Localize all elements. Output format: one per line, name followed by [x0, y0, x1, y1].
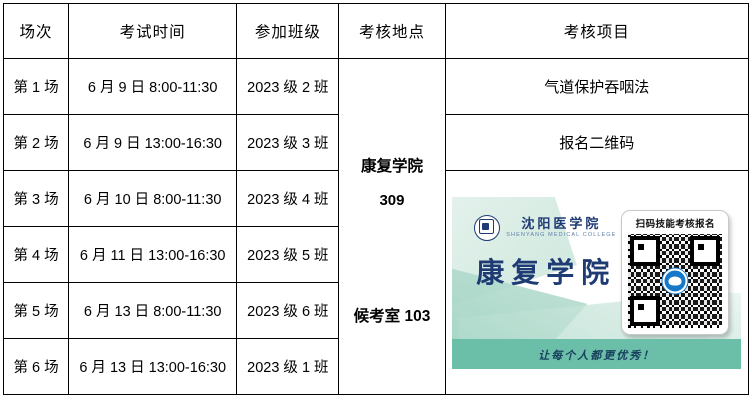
cell-time: 6 月 11 日 13:00-16:30 [69, 227, 237, 283]
university-seal-icon [474, 215, 500, 241]
qr-panel[interactable]: 扫码技能考核报名 [621, 210, 729, 335]
cell-session: 第 5 场 [4, 283, 69, 339]
column-header-class: 参加班级 [237, 4, 339, 59]
university-brand-text: 沈阳医学院 SHENYANG MEDICAL COLLEGE [506, 217, 616, 239]
qr-finder-icon [690, 236, 720, 266]
college-name: 康复学院 [476, 251, 616, 291]
qr-finder-icon [630, 296, 660, 326]
cell-session: 第 6 场 [4, 339, 69, 395]
cell-item-qrcode-label: 报名二维码 [445, 115, 748, 171]
cell-session: 第 2 场 [4, 115, 69, 171]
promo-card: 沈阳医学院 SHENYANG MEDICAL COLLEGE 康复学院 扫码技能… [452, 197, 741, 369]
cell-place-merged: 康复学院 309 候考室 103 [339, 59, 445, 395]
column-header-time: 考试时间 [69, 4, 237, 59]
cell-time: 6 月 9 日 8:00-11:30 [69, 59, 237, 115]
table-header-row: 场次 考试时间 参加班级 考核地点 考核项目 [4, 4, 749, 59]
cell-class: 2023 级 6 班 [237, 283, 339, 339]
university-name-cn: 沈阳医学院 [506, 217, 616, 231]
cell-class: 2023 级 5 班 [237, 227, 339, 283]
cell-time: 6 月 10 日 8:00-11:30 [69, 171, 237, 227]
cell-promo-card: 沈阳医学院 SHENYANG MEDICAL COLLEGE 康复学院 扫码技能… [445, 171, 748, 395]
place-inner: 康复学院 309 候考室 103 [341, 62, 442, 392]
cell-class: 2023 级 4 班 [237, 171, 339, 227]
cell-item-skill: 气道保护吞咽法 [445, 59, 748, 115]
table-row: 第 1 场 6 月 9 日 8:00-11:30 2023 级 2 班 康复学院… [4, 59, 749, 115]
qr-code-icon[interactable] [628, 234, 722, 328]
cell-time: 6 月 13 日 8:00-11:30 [69, 283, 237, 339]
column-header-session: 场次 [4, 4, 69, 59]
qr-finder-icon [630, 236, 660, 266]
cell-session: 第 3 场 [4, 171, 69, 227]
university-brand: 沈阳医学院 SHENYANG MEDICAL COLLEGE [474, 215, 616, 241]
card-slogan: 让每个人都更优秀！ [452, 347, 741, 363]
exam-schedule-table: 场次 考试时间 参加班级 考核地点 考核项目 第 1 场 6 月 9 日 8:0… [3, 3, 749, 395]
cell-session: 第 1 场 [4, 59, 69, 115]
cell-class: 2023 级 2 班 [237, 59, 339, 115]
column-header-place: 考核地点 [339, 4, 445, 59]
qr-caption: 扫码技能考核报名 [626, 216, 724, 230]
cell-time: 6 月 9 日 13:00-16:30 [69, 115, 237, 171]
column-header-item: 考核项目 [445, 4, 748, 59]
cell-session: 第 4 场 [4, 227, 69, 283]
promo-card-wrapper: 沈阳医学院 SHENYANG MEDICAL COLLEGE 康复学院 扫码技能… [448, 174, 746, 392]
cell-class: 2023 级 1 班 [237, 339, 339, 395]
cell-class: 2023 级 3 班 [237, 115, 339, 171]
place-line-waiting-room: 候考室 103 [341, 304, 442, 326]
qr-center-logo-icon [663, 268, 688, 293]
cell-time: 6 月 13 日 13:00-16:30 [69, 339, 237, 395]
university-name-en: SHENYANG MEDICAL COLLEGE [506, 232, 616, 238]
place-line-room: 309 [341, 192, 442, 209]
place-line-college: 康复学院 [341, 154, 442, 176]
